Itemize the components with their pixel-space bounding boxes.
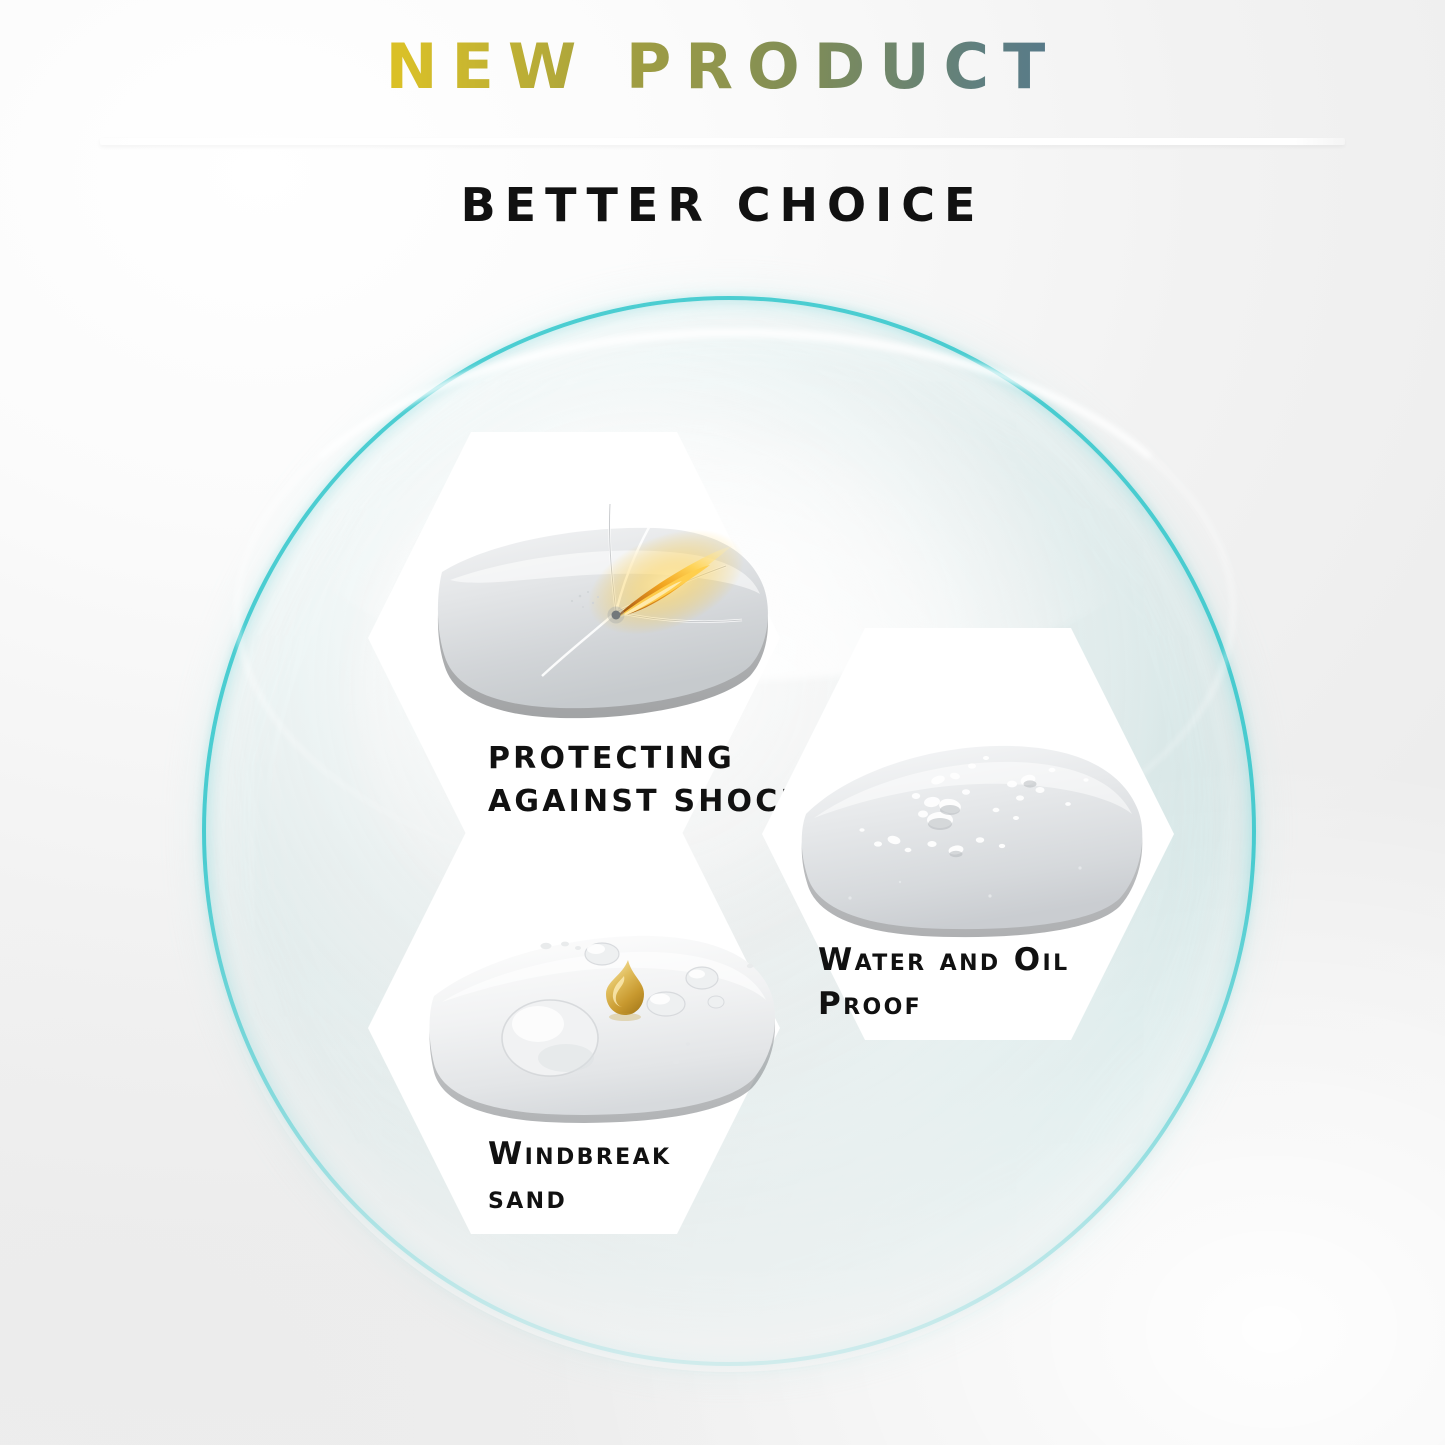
- page-subtitle: BETTER CHOICE: [0, 178, 1445, 232]
- feature-label-waterproof-line1: Water and Oil: [818, 942, 1070, 978]
- feature-label-waterproof-line2: Proof: [818, 986, 922, 1022]
- feature-label-windbreak-line2: sand: [488, 1180, 567, 1216]
- feature-label-shock-line2: AGAINST SHOCK: [488, 784, 807, 819]
- feature-label-shock-line1: PROTECTING: [488, 741, 735, 776]
- lens-with-water-droplets-icon: [790, 718, 1160, 948]
- lens-with-spark-impact-icon: [420, 470, 800, 760]
- page-title: NEW PRODUCT: [0, 36, 1445, 98]
- lens-with-oil-and-water-droplets-icon: [420, 918, 790, 1133]
- header-divider: [100, 138, 1345, 145]
- feature-label-shock: PROTECTINGAGAINST SHOCK: [488, 738, 807, 823]
- feature-label-waterproof: Water and OilProof: [818, 938, 1070, 1026]
- feature-label-windbreak-line1: Windbreak: [488, 1136, 671, 1172]
- product-poster: NEW PRODUCT BETTER CHOICE: [0, 0, 1445, 1445]
- feature-label-windbreak: Windbreaksand: [488, 1132, 671, 1220]
